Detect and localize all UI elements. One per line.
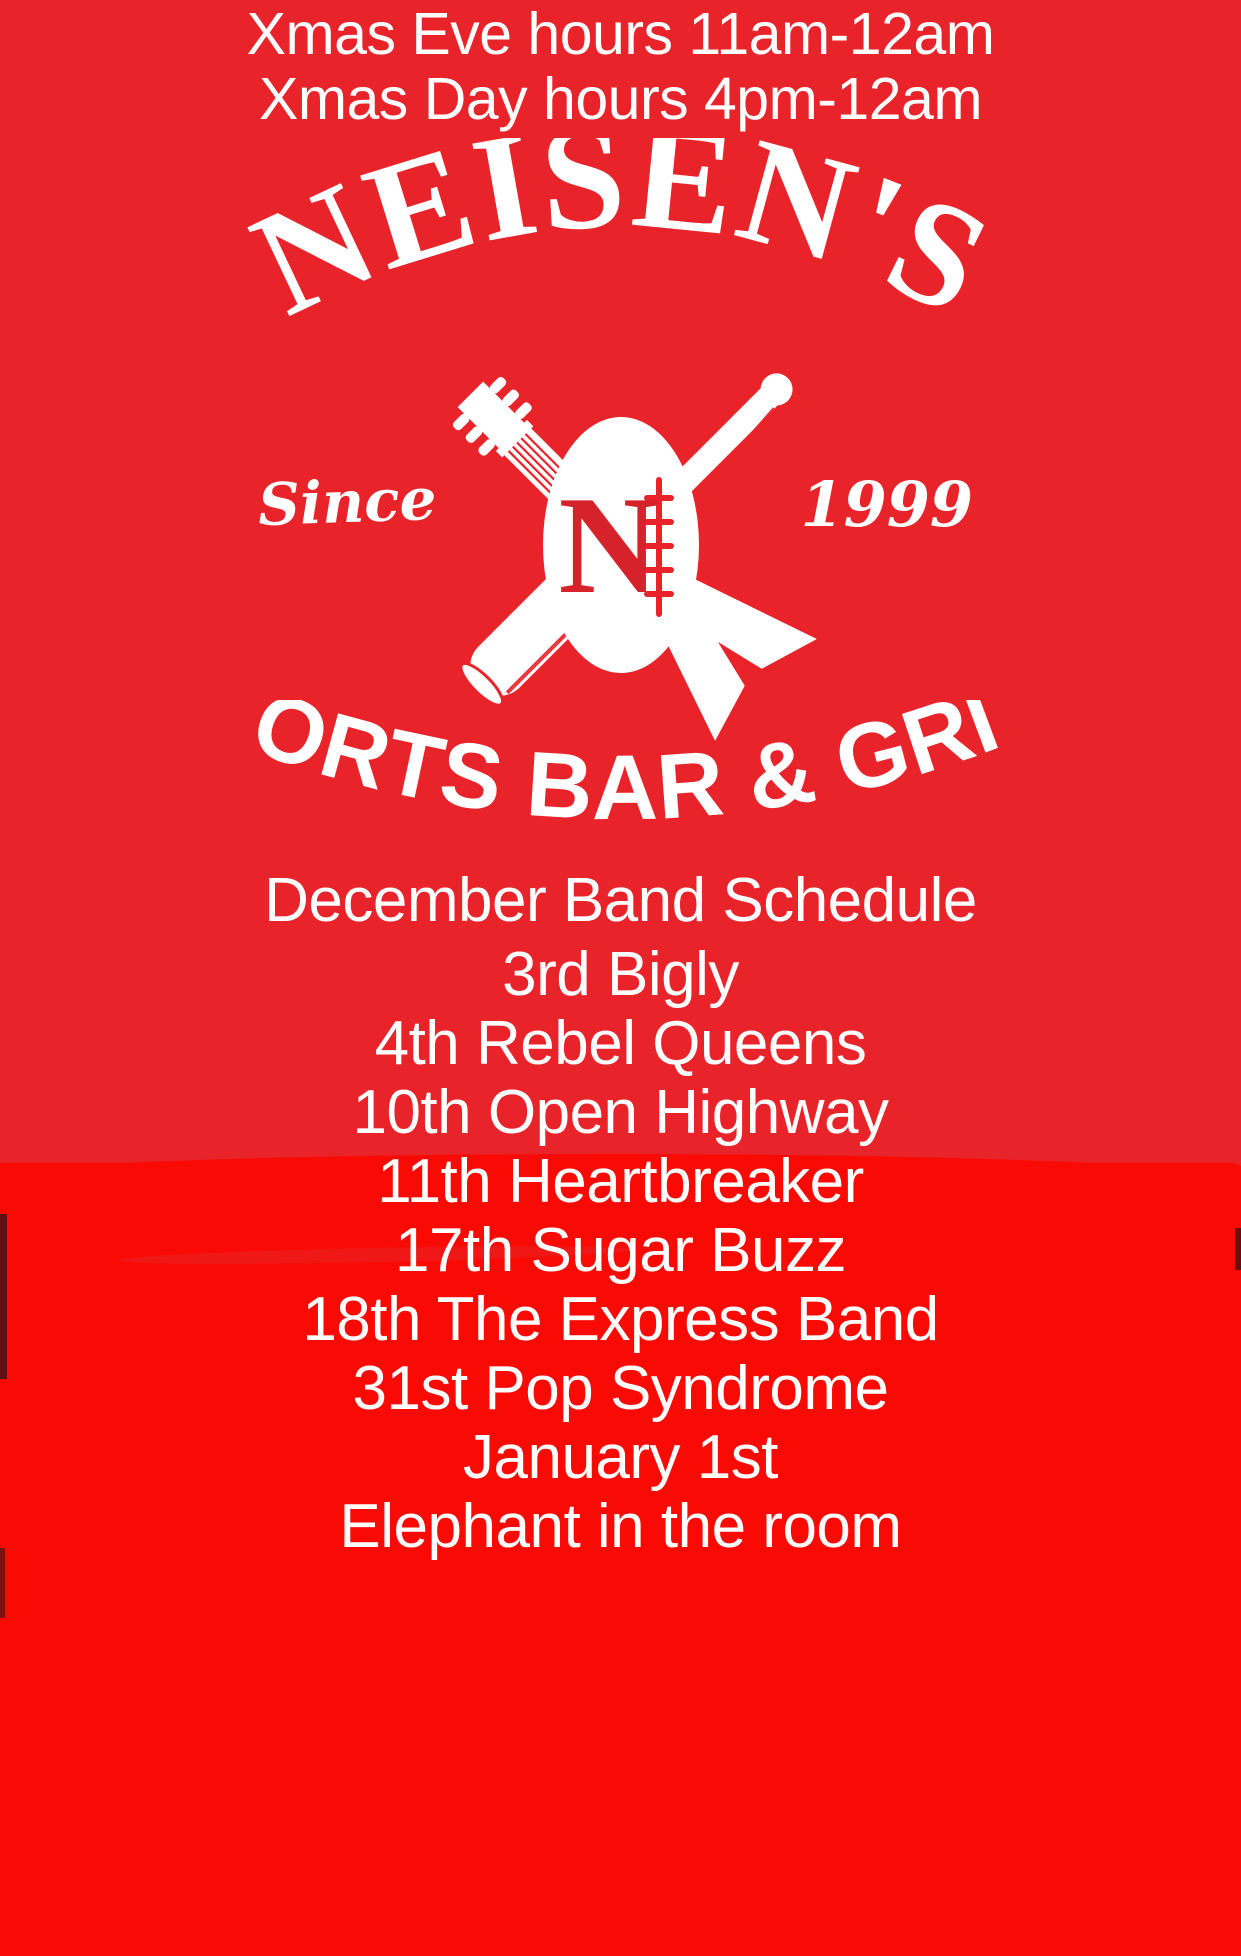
schedule-entry: 3rd Bigly [0, 940, 1241, 1009]
band-schedule: December Band Schedule 3rd Bigly 4th Reb… [0, 862, 1241, 1561]
logo-tagline-text: SPORTS BAR & GRILL [211, 700, 1012, 839]
schedule-entry: 11th Heartbreaker [0, 1147, 1241, 1216]
established-year: 1999 [800, 468, 973, 541]
crossed-instruments-emblem: N [0, 330, 1241, 760]
schedule-entry: 10th Open Highway [0, 1078, 1241, 1147]
xmas-eve-hours: Xmas Eve hours 11am-12am [0, 2, 1241, 67]
neisens-wordmark-text: NEISEN'S [229, 138, 1013, 348]
schedule-entry: January 1st [0, 1423, 1241, 1492]
poster-root: Xmas Eve hours 11am-12am Xmas Day hours … [0, 0, 1241, 1956]
schedule-list: 3rd Bigly 4th Rebel Queens 10th Open Hig… [0, 940, 1241, 1561]
schedule-entry: 4th Rebel Queens [0, 1009, 1241, 1078]
schedule-entry: 18th The Express Band [0, 1285, 1241, 1354]
schedule-entry: Elephant in the room [0, 1492, 1241, 1561]
xmas-day-hours: Xmas Day hours 4pm-12am [0, 67, 1241, 132]
holiday-hours-block: Xmas Eve hours 11am-12am Xmas Day hours … [0, 0, 1241, 132]
since-label: Since [257, 465, 438, 539]
schedule-title: December Band Schedule [0, 862, 1241, 940]
schedule-entry: 17th Sugar Buzz [0, 1216, 1241, 1285]
football-emblem-icon: N [543, 417, 699, 673]
football-letter-n: N [558, 468, 659, 623]
schedule-entry: 31st Pop Syndrome [0, 1354, 1241, 1423]
